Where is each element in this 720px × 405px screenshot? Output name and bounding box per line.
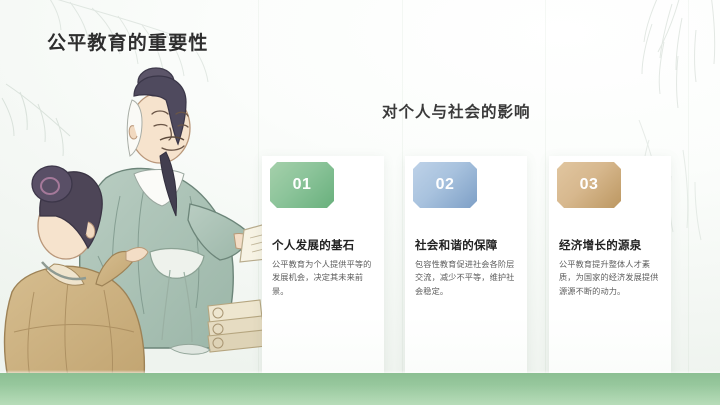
page-title: 公平教育的重要性	[47, 28, 209, 55]
scholar-illustration	[0, 56, 294, 378]
feature-card[interactable]: 01 个人发展的基石 公平教育为个人提供平等的发展机会，决定其未来前景。	[262, 156, 384, 378]
card-description: 公平教育为个人提供平等的发展机会，决定其未来前景。	[272, 258, 376, 298]
card-title: 社会和谐的保障	[415, 237, 498, 253]
feature-card[interactable]: 03 经济增长的源泉 公平教育提升整体人才素质，为国家的经济发展提供源源不断的动…	[549, 156, 671, 378]
card-description: 包容性教育促进社会各阶层交流，减少不平等，维护社会稳定。	[415, 258, 519, 298]
card-number-badge: 01	[270, 162, 334, 208]
card-title: 个人发展的基石	[272, 237, 355, 253]
feature-card[interactable]: 02 社会和谐的保障 包容性教育促进社会各阶层交流，减少不平等，维护社会稳定。	[405, 156, 527, 378]
card-number-badge: 02	[413, 162, 477, 208]
card-number-badge: 03	[557, 162, 621, 208]
card-description: 公平教育提升整体人才素质，为国家的经济发展提供源源不断的动力。	[559, 258, 663, 298]
paper-seam	[688, 0, 689, 405]
willow-branch-icon	[560, 0, 720, 140]
card-title: 经济增长的源泉	[559, 237, 642, 253]
bottom-green-band	[0, 373, 720, 405]
slide-canvas: 公平教育的重要性 对个人与社会的影响	[0, 0, 720, 405]
section-subtitle: 对个人与社会的影响	[382, 100, 531, 122]
paper-seam	[402, 0, 403, 405]
paper-seam	[545, 0, 546, 405]
